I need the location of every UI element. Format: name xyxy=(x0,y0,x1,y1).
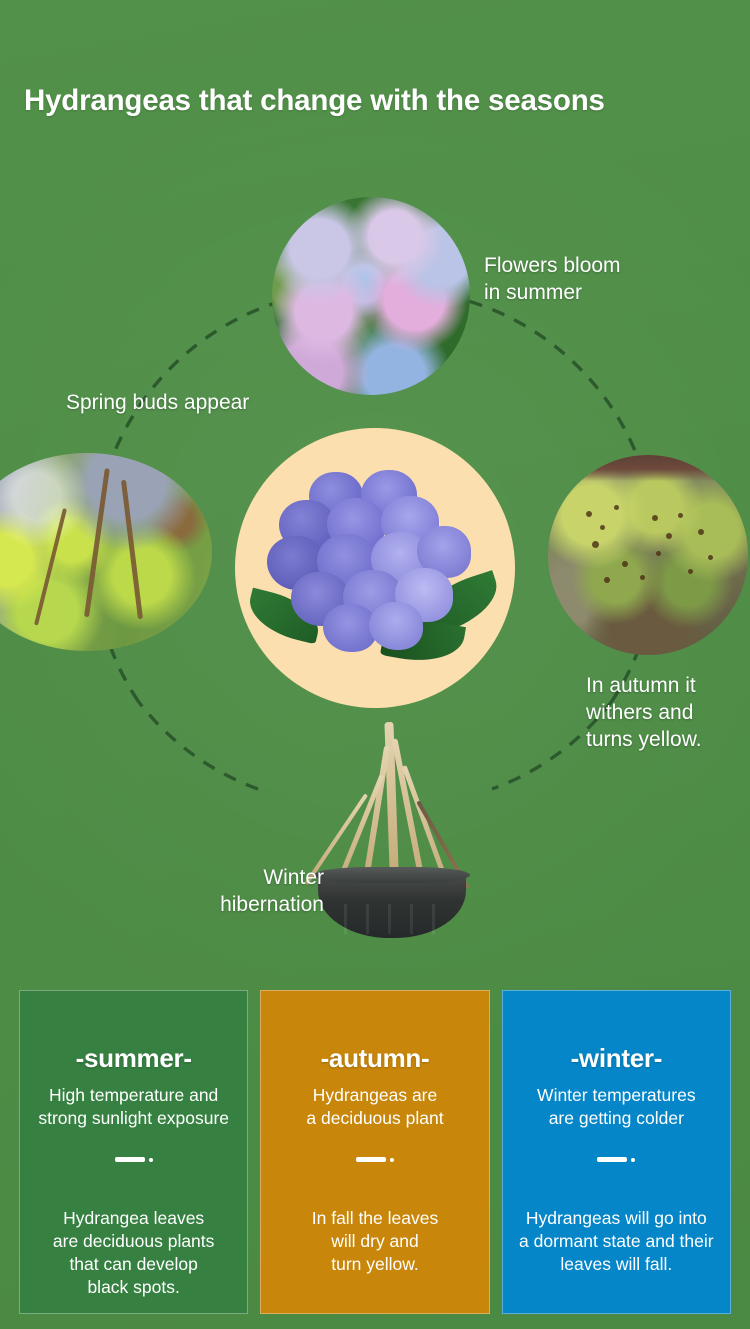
center-bloom-image xyxy=(265,470,485,660)
card-winter-heading: -winter- xyxy=(515,1043,718,1074)
label-winter: Winter hibernation xyxy=(194,864,324,918)
center-bloom-photo xyxy=(235,428,515,708)
seasonal-cycle-diagram: Flowers bloom in summer Spring buds appe… xyxy=(0,150,750,970)
card-divider xyxy=(32,1141,235,1179)
divider-dash-icon xyxy=(597,1157,627,1162)
autumn-leaves-image xyxy=(548,455,748,655)
label-spring: Spring buds appear xyxy=(66,389,249,416)
card-summer: -summer- High temperature and strong sun… xyxy=(19,990,248,1314)
plant-pot xyxy=(318,870,466,938)
card-winter: -winter- Winter temperatures are getting… xyxy=(502,990,731,1314)
summer-blooms-photo xyxy=(272,197,470,395)
card-winter-body: Hydrangeas will go into a dormant state … xyxy=(515,1207,718,1277)
page-title: Hydrangeas that change with the seasons xyxy=(24,84,730,118)
divider-dash-icon xyxy=(356,1157,386,1162)
label-summer: Flowers bloom in summer xyxy=(484,252,621,306)
card-summer-subtitle: High temperature and strong sunlight exp… xyxy=(32,1084,235,1130)
season-cards: -summer- High temperature and strong sun… xyxy=(0,990,750,1314)
spring-buds-photo xyxy=(0,453,212,651)
card-summer-body: Hydrangea leaves are deciduous plants th… xyxy=(32,1207,235,1300)
card-autumn-heading: -autumn- xyxy=(273,1043,476,1074)
card-autumn: -autumn- Hydrangeas are a deciduous plan… xyxy=(260,990,489,1314)
divider-dot-icon xyxy=(631,1158,635,1162)
label-autumn: In autumn it withers and turns yellow. xyxy=(586,672,702,753)
card-summer-heading: -summer- xyxy=(32,1043,235,1074)
divider-dot-icon xyxy=(149,1158,153,1162)
summer-blooms-image xyxy=(272,197,470,395)
divider-dot-icon xyxy=(390,1158,394,1162)
divider-dash-icon xyxy=(115,1157,145,1162)
card-divider xyxy=(273,1141,476,1179)
autumn-leaves-photo xyxy=(548,455,748,655)
card-autumn-body: In fall the leaves will dry and turn yel… xyxy=(273,1207,476,1277)
card-divider xyxy=(515,1141,718,1179)
card-autumn-subtitle: Hydrangeas are a deciduous plant xyxy=(273,1084,476,1130)
card-winter-subtitle: Winter temperatures are getting colder xyxy=(515,1084,718,1130)
